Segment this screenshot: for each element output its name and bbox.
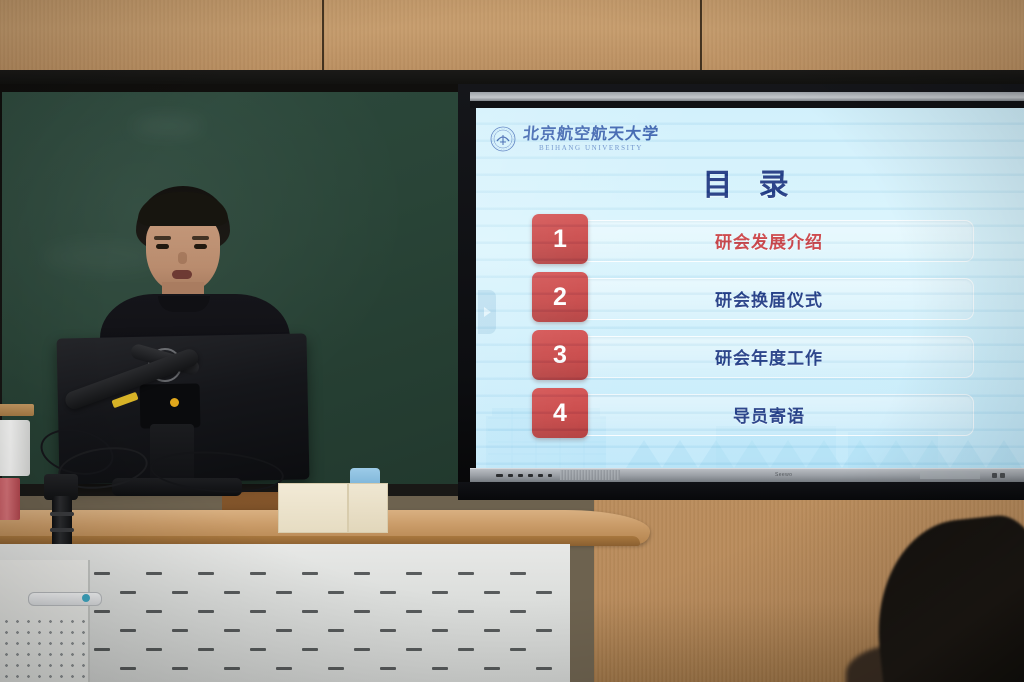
red-cup [0,478,20,520]
podium-vent-slot [250,610,266,613]
presenter-collar [158,296,210,312]
presentation-slide: 北京航空航天大学 BEIHANG UNIVERSITY 目 录 1 研会发展介绍… [476,108,1024,468]
bezel-speaker-grille [560,470,620,480]
podium-vent-slot [120,591,136,594]
podium-vent-slot [380,629,396,632]
podium-vent-slot [302,572,318,575]
monitor-vesa-mount [140,383,201,428]
microphone-indicator [170,398,179,407]
bezel-button[interactable] [528,474,533,477]
presenter-eye [194,244,207,249]
bezel-brand-label: Seewo [775,472,792,478]
toc-list: 1 研会发展介绍 2 研会换届仪式 3 研会年度工作 4 导员寄语 [532,214,972,446]
bezel-button[interactable] [496,474,503,477]
podium-vent-slot [536,629,552,632]
presenter-eyebrow [154,236,171,240]
wood-seam [700,0,702,72]
smartboard-top-gap [470,101,1024,108]
podium-vent-slot [94,572,110,575]
podium-slot-grid [94,566,572,682]
podium-vent-slot [276,629,292,632]
toc-item-3[interactable]: 3 研会年度工作 [532,330,972,388]
podium-vent-slot [432,591,448,594]
bezel-right-panel [920,471,980,479]
clamp-ring [50,512,74,516]
podium-vent-slot [484,591,500,594]
presenter-mouth [172,270,192,279]
podium-vent-slot [458,610,474,613]
podium-vent-slot [172,667,188,670]
podium-vent-slot [510,572,526,575]
podium-vent-slot [276,667,292,670]
podium-vent-slot [120,667,136,670]
bezel-button[interactable] [518,474,523,477]
slide-next-arrow-icon[interactable] [478,290,496,334]
podium-vent-slot [198,572,214,575]
podium-vent-slot [172,629,188,632]
podium-vent-slot [354,572,370,575]
classroom-scene: 北京航空航天大学 BEIHANG UNIVERSITY 目 录 1 研会发展介绍… [0,0,1024,682]
podium-handle-indicator [82,594,90,602]
podium-vent-slot [380,667,396,670]
beihang-seal-icon [490,126,516,152]
podium-vent-slot [432,629,448,632]
presenter-nose [178,252,187,264]
wood-seam [322,0,324,72]
podium-vent-slot [328,629,344,632]
toc-item-2[interactable]: 2 研会换届仪式 [532,272,972,330]
cardboard-box-small [348,483,388,533]
podium-vent-slot [146,572,162,575]
podium-vent-slot [120,629,136,632]
podium-vent-slot [328,667,344,670]
podium-vent-slot [406,610,422,613]
podium-vent-slot [484,667,500,670]
bezel-button[interactable] [508,474,513,477]
bezel-port[interactable] [992,473,997,478]
toc-item-label: 研会换届仪式 [566,278,972,318]
podium-vent-slot [224,591,240,594]
podium-vent-slot [146,610,162,613]
white-cylinder-object [0,420,30,476]
toc-item-1[interactable]: 1 研会发展介绍 [532,214,972,272]
podium-vent-slot [406,648,422,651]
podium-vent-slot [458,572,474,575]
university-name-en: BEIHANG UNIVERSITY [523,145,659,152]
podium-vent-slot [302,648,318,651]
cardboard-box-large [278,483,348,533]
podium-vent-slot [354,648,370,651]
podium-vent-slot [198,610,214,613]
toc-item-4[interactable]: 4 导员寄语 [532,388,972,446]
podium-vent-slot [276,591,292,594]
podium-vent-slot [250,572,266,575]
podium-drawer-handle[interactable] [28,592,102,606]
podium-vent-slot [224,667,240,670]
podium-vent-slot [458,648,474,651]
presenter-eye [156,244,169,249]
podium-vent-slot [250,648,266,651]
podium-vent-slot [224,629,240,632]
podium-perforated-dot-panel [0,616,88,682]
clamp-ring [50,528,74,532]
smartboard-top-strip [470,92,1024,101]
podium-vent-slot [328,591,344,594]
podium-vent-slot [536,667,552,670]
podium-vent-slot [510,610,526,613]
slide-title: 目 录 [476,160,1024,204]
podium-vent-slot [432,667,448,670]
bezel-port[interactable] [1000,473,1005,478]
upper-wood-wall [0,0,1024,72]
side-shelf [0,404,34,416]
bezel-button[interactable] [538,474,543,477]
university-name-cn: 北京航空航天大学 [522,127,659,143]
podium-vent-slot [406,572,422,575]
podium-vent-slot [94,648,110,651]
podium-vent-slot [510,648,526,651]
toc-item-label: 研会年度工作 [566,336,972,376]
university-logo: 北京航空航天大学 BEIHANG UNIVERSITY [490,126,659,152]
toc-item-label: 研会发展介绍 [566,220,972,260]
podium-vent-slot [172,591,188,594]
podium-vent-slot [302,610,318,613]
podium-vent-slot [536,591,552,594]
podium-vent-slot [484,629,500,632]
chalk-smudge [132,118,202,134]
podium-vent-slot [198,648,214,651]
smartboard-underside [458,482,1024,500]
podium-vent-slot [146,648,162,651]
smartboard-screen[interactable]: 北京航空航天大学 BEIHANG UNIVERSITY 目 录 1 研会发展介绍… [476,108,1024,468]
bezel-power-button[interactable] [548,474,552,477]
toc-item-label: 导员寄语 [566,394,972,434]
podium-vent-slot [354,610,370,613]
podium-vent-slot [94,610,110,613]
presenter-eyebrow [192,236,209,240]
podium-vent-slot [380,591,396,594]
